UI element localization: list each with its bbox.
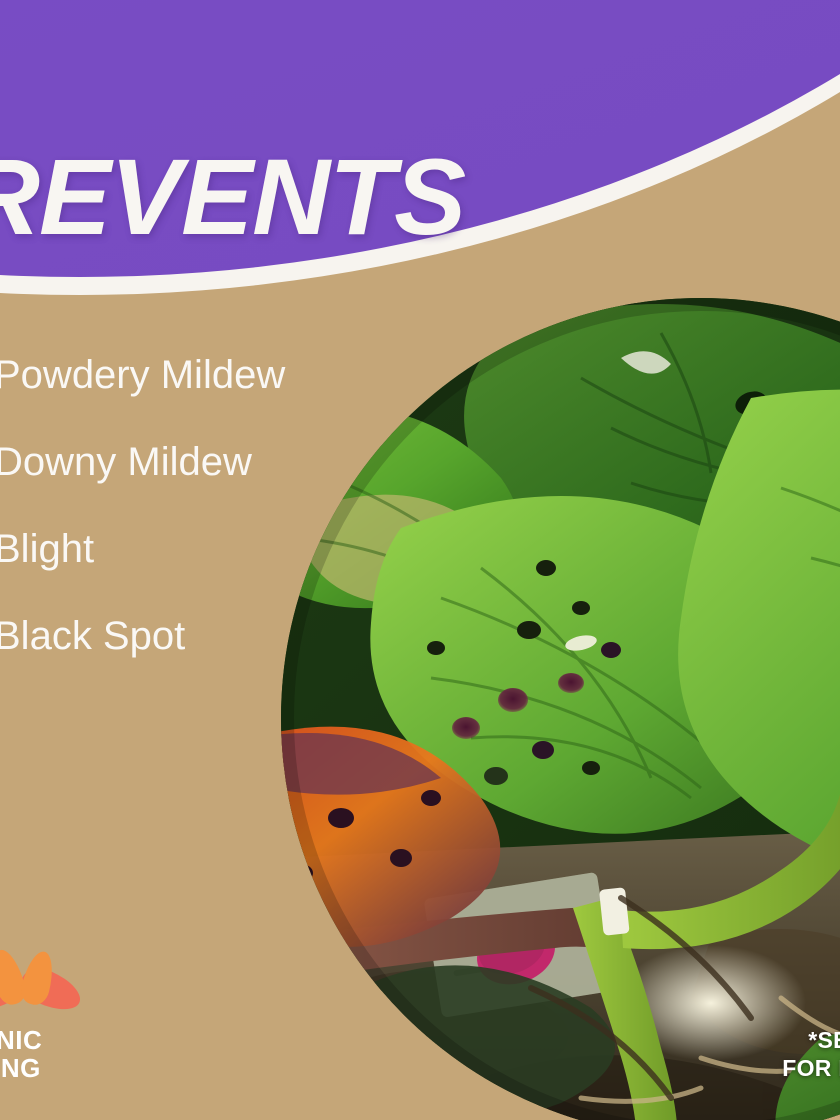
list-item: Downy Mildew (0, 442, 394, 482)
page-title: REVENTS (0, 143, 682, 251)
poster-canvas: REVENTS Powdery Mildew Downy Mildew Blig… (0, 0, 840, 1120)
brand-logo-line1: GANIC (0, 1027, 136, 1054)
flower-petals-logo-icon (0, 949, 80, 1023)
list-item: Powdery Mildew (0, 355, 394, 395)
disclaimer-line2: FOR FUL (782, 1054, 840, 1082)
brand-logo: GANIC ENING (0, 949, 136, 1082)
disclaimer-line1: *SEE (782, 1026, 840, 1054)
disclaimer-note: *SEE FOR FUL (782, 1026, 840, 1082)
brand-logo-text: GANIC ENING (0, 1027, 136, 1082)
brand-logo-line2: ENING (0, 1055, 136, 1082)
